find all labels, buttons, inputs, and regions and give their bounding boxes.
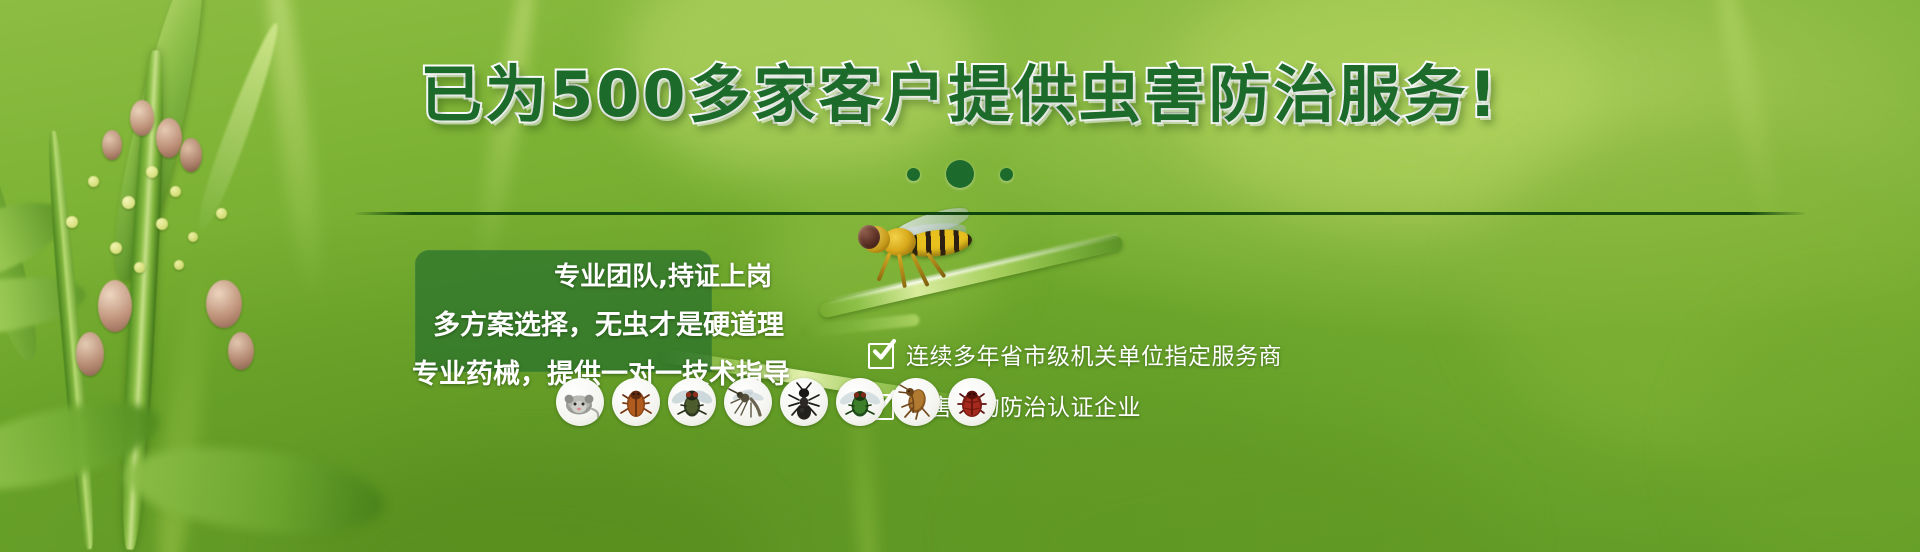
dot-large-center-icon [946, 160, 974, 188]
mosquito-icon[interactable] [724, 378, 772, 426]
feature-panel-text: 专业团队,持证上岗 多方案选择，无虫才是硬道理 专业药械，提供一对一技术指导 [330, 256, 790, 391]
credential-item-1: 连续多年省市级机关单位指定服务商 [868, 337, 1282, 371]
feature-line-2: 多方案选择，无虫才是硬道理 [330, 303, 790, 342]
pest-icon-row [556, 378, 996, 426]
dot-small-left-icon [907, 168, 920, 181]
credential-label-1: 连续多年省市级机关单位指定服务商 [906, 337, 1282, 371]
cockroach-icon[interactable] [612, 378, 660, 426]
blowfly-icon[interactable] [836, 378, 884, 426]
feature-line-1: 专业团队,持证上岗 [330, 256, 790, 293]
decorative-dots [0, 160, 1920, 188]
checkbox-checked-icon [868, 341, 894, 367]
divider-rule [355, 212, 1805, 215]
rat-icon[interactable] [556, 378, 604, 426]
pest-control-banner: 已为500多家客户提供虫害防治服务! 专业团队,持证上岗 多方案选择，无虫才是硬… [0, 0, 1920, 552]
ant-icon[interactable] [780, 378, 828, 426]
housefly-icon[interactable] [668, 378, 716, 426]
dot-small-right-icon [1000, 168, 1013, 181]
flea-icon[interactable] [892, 378, 940, 426]
bedbug-icon[interactable] [948, 378, 996, 426]
